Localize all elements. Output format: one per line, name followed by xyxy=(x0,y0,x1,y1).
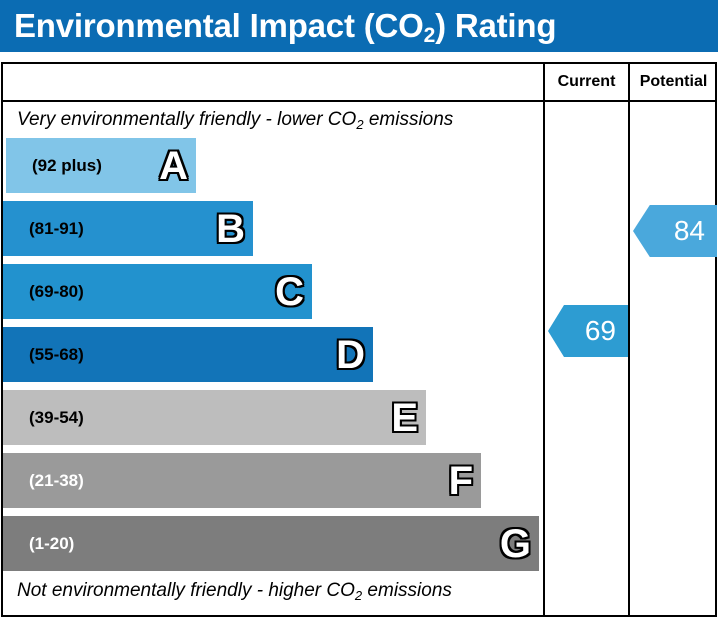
page-title-suffix: ) Rating xyxy=(435,7,556,44)
title-bar: Environmental Impact (CO2) Rating xyxy=(0,0,718,52)
current-rating-arrow: 69 xyxy=(548,305,628,357)
column-divider-potential xyxy=(628,64,630,615)
caption-top: Very environmentally friendly - lower CO… xyxy=(17,109,453,131)
page-title-prefix: Environmental Impact (CO xyxy=(14,7,424,44)
rating-band-c: (69-80)C xyxy=(3,264,312,319)
rating-band-list: (92 plus)A(81-91)B(69-80)C(55-68)D(39-54… xyxy=(3,138,543,578)
header-row-divider xyxy=(3,100,715,102)
band-range-label: (55-68) xyxy=(29,345,84,365)
caption-top-subscript: 2 xyxy=(356,117,363,132)
caption-bottom-suffix: emissions xyxy=(362,580,452,601)
caption-bottom-prefix: Not environmentally friendly - higher CO xyxy=(17,580,355,601)
band-letter-f: F xyxy=(449,461,473,501)
band-letter-e: E xyxy=(391,398,418,438)
band-letter-c: C xyxy=(275,272,304,312)
potential-rating-arrow: 84 xyxy=(633,205,717,257)
band-letter-b: B xyxy=(216,209,245,249)
column-header-current: Current xyxy=(545,64,628,100)
band-range-label: (81-91) xyxy=(29,219,84,239)
rating-band-f: (21-38)F xyxy=(3,453,481,508)
band-range-label: (69-80) xyxy=(29,282,84,302)
band-range-label: (92 plus) xyxy=(32,156,102,176)
page-title: Environmental Impact (CO2) Rating xyxy=(14,4,556,53)
rating-band-e: (39-54)E xyxy=(3,390,426,445)
band-letter-a: A xyxy=(159,146,188,186)
caption-bottom: Not environmentally friendly - higher CO… xyxy=(17,580,452,602)
band-range-label: (21-38) xyxy=(29,471,84,491)
rating-band-g: (1-20)G xyxy=(3,516,539,571)
column-divider-current xyxy=(543,64,545,615)
rating-band-b: (81-91)B xyxy=(3,201,253,256)
caption-bottom-subscript: 2 xyxy=(355,588,362,603)
rating-band-d: (55-68)D xyxy=(3,327,373,382)
caption-top-prefix: Very environmentally friendly - lower CO xyxy=(17,109,356,130)
band-range-label: (1-20) xyxy=(29,534,74,554)
band-letter-d: D xyxy=(336,335,365,375)
band-range-label: (39-54) xyxy=(29,408,84,428)
page-title-subscript: 2 xyxy=(424,24,435,47)
column-header-potential: Potential xyxy=(630,64,717,100)
rating-band-a: (92 plus)A xyxy=(6,138,196,193)
rating-table: Current Potential Very environmentally f… xyxy=(1,62,717,617)
caption-top-suffix: emissions xyxy=(364,109,454,130)
epc-environmental-impact-chart: Environmental Impact (CO2) Rating Curren… xyxy=(0,0,718,619)
band-letter-g: G xyxy=(500,524,531,564)
